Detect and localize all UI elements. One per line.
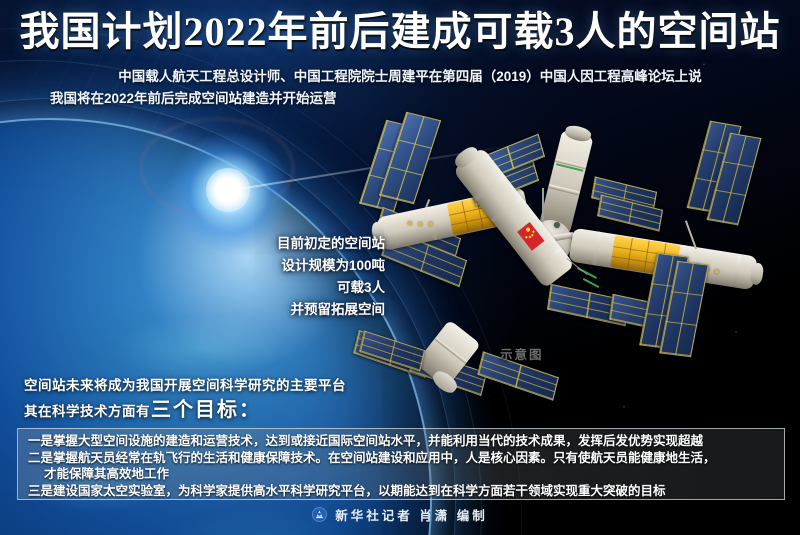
- lower-headline-emphasis: 三个目标：: [151, 395, 261, 425]
- station-module-shenzhou: [538, 130, 593, 235]
- spec-line-4: 并预留拓展空间: [210, 299, 385, 321]
- module-ring: [532, 248, 561, 272]
- module-ring: [548, 184, 580, 196]
- module-end-cap: [564, 124, 593, 144]
- goal-item-1: 一是掌握大型空间设施的建造和运营技术，达到或接近国际空间站水平，并能利用当代的技…: [28, 433, 776, 450]
- goals-box: 一是掌握大型空间设施的建造和运营技术，达到或接近国际空间站水平，并能利用当代的技…: [17, 428, 785, 500]
- goal-item-2-continuation: 才能保障其高效地工作: [28, 466, 776, 483]
- spec-line-2: 设计规模为100吨: [210, 255, 385, 277]
- credit-text: 新华社记者 肖潇 编制: [335, 505, 487, 524]
- subtitle-line-1: 中国载人航天工程总设计师、中国工程院院士周建平在第四届（2019）中国人因工程高…: [40, 66, 780, 88]
- goal-item-3: 三是建设国家太空实验室，为科学家提供高水平科学研究平台，以期能达到在科学方面若干…: [28, 483, 776, 500]
- lower-headline-prefix: 其在科学技术方面有: [24, 402, 150, 422]
- lower-headline-line-2: 其在科学技术方面有 三个目标：: [24, 395, 346, 425]
- spec-callout: 目前初定的空间站 设计规模为100吨 可载3人 并预留拓展空间: [210, 233, 385, 320]
- antenna: [542, 188, 544, 222]
- spec-line-1: 目前初定的空间站: [210, 233, 385, 255]
- spec-line-3: 可载3人: [210, 277, 385, 299]
- module-ring: [592, 231, 601, 265]
- xinhua-logo-icon: [312, 507, 327, 522]
- module-end-cap: [749, 262, 764, 286]
- module-ring: [474, 174, 507, 201]
- infographic-poster: 我国计划2022年前后建成可载3人的空间站 中国载人航天工程总设计师、中国工程院…: [0, 0, 800, 535]
- subtitle-block: 中国载人航天工程总设计师、中国工程院院士周建平在第四届（2019）中国人因工程高…: [40, 66, 780, 111]
- module-ring: [491, 196, 523, 223]
- space-station-illustration: [358, 126, 800, 394]
- schematic-label: 示意图: [500, 344, 544, 363]
- china-flag-decal: [517, 222, 544, 251]
- module-end-cap: [452, 144, 481, 171]
- footer: 新华社记者 肖潇 编制: [0, 505, 800, 524]
- subtitle-line-2: 我国将在2022年前后完成空间站建造并开始运营: [40, 88, 780, 110]
- page-title: 我国计划2022年前后建成可载3人的空间站: [0, 10, 800, 55]
- lower-headline-line-1: 空间站未来将成为我国开展空间科学研究的主要平台: [24, 377, 346, 395]
- goal-item-2: 二是掌握航天员经常在轨飞行的生活和健康保障技术。在空间站建设和应用中，人是核心因…: [28, 450, 776, 467]
- module-ring: [434, 337, 467, 364]
- lower-headline: 空间站未来将成为我国开展空间科学研究的主要平台 其在科学技术方面有 三个目标：: [24, 377, 346, 425]
- module-ring: [733, 256, 742, 286]
